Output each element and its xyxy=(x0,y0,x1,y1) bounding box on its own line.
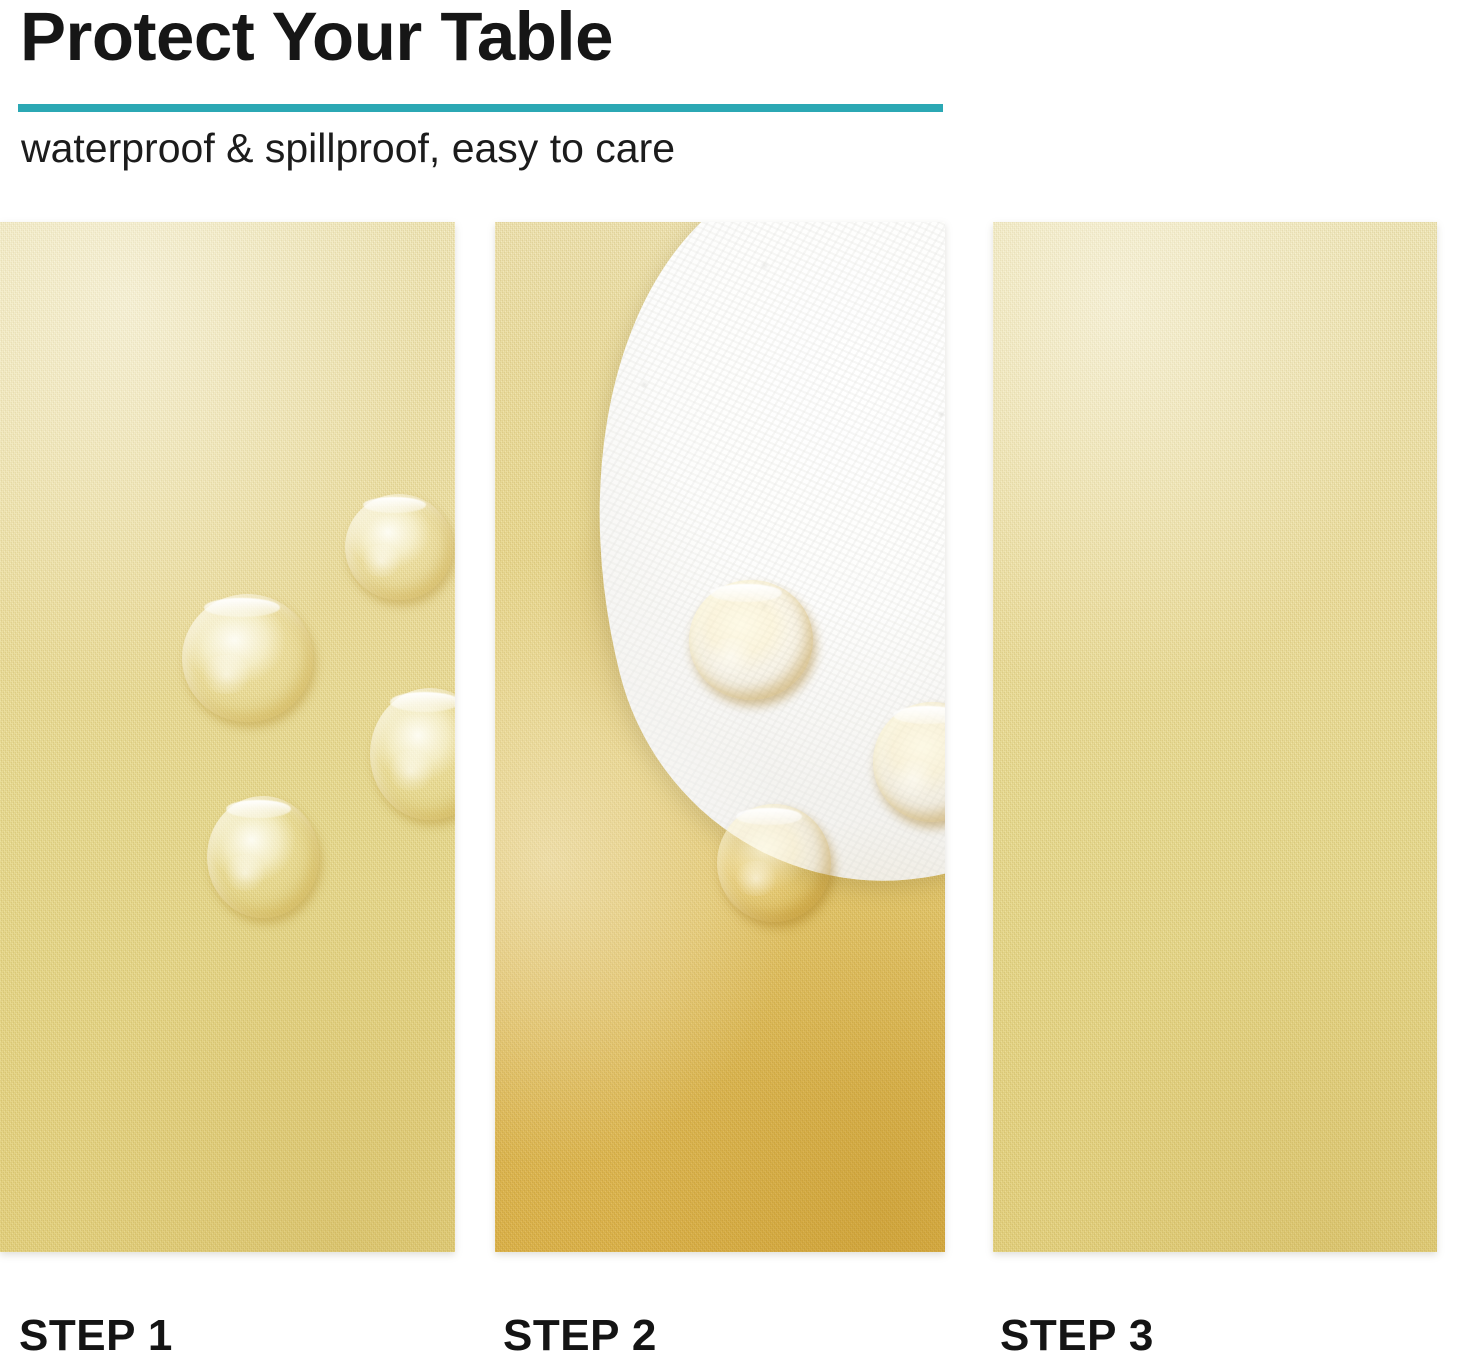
step-3-image xyxy=(993,222,1437,1252)
step-1-image xyxy=(0,222,455,1252)
page-title: Protect Your Table xyxy=(20,2,613,71)
step-2-label: STEP 2 xyxy=(503,1314,657,1358)
title-divider-rule xyxy=(18,104,943,112)
water-droplet-icon xyxy=(689,580,813,700)
step-image-strip xyxy=(0,222,1458,1252)
step-3-label: STEP 3 xyxy=(1000,1314,1154,1358)
step-1-label: STEP 1 xyxy=(19,1314,173,1358)
step-label-row: STEP 1 STEP 2 STEP 3 xyxy=(0,1252,1458,1363)
header: Protect Your Table waterproof & spillpro… xyxy=(0,0,1458,200)
fabric-diagonal-texture-3 xyxy=(993,222,1437,1252)
water-droplet-icon xyxy=(345,494,453,600)
step-2-image xyxy=(495,222,945,1252)
water-droplet-icon xyxy=(182,594,313,722)
page-subtitle: waterproof & spillproof, easy to care xyxy=(21,128,675,169)
water-droplet-icon xyxy=(207,796,319,918)
water-droplet-icon xyxy=(717,804,831,922)
